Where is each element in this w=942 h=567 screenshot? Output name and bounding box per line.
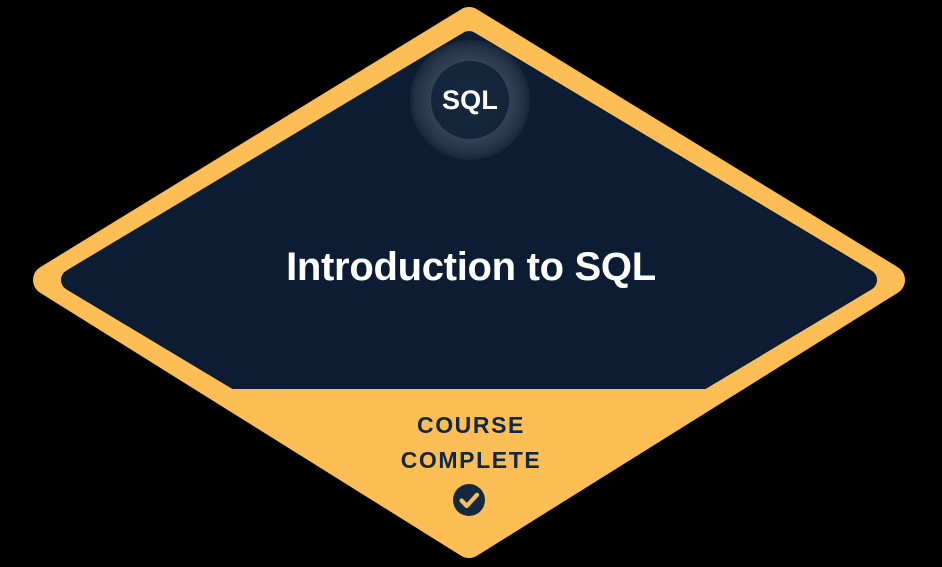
course-completion-badge: SQL Introduction to SQL COURSE COMPLETE xyxy=(0,0,942,567)
sql-chip-icon xyxy=(410,40,530,160)
check-circle-icon xyxy=(453,484,485,516)
badge-shape-graphic xyxy=(0,0,942,567)
